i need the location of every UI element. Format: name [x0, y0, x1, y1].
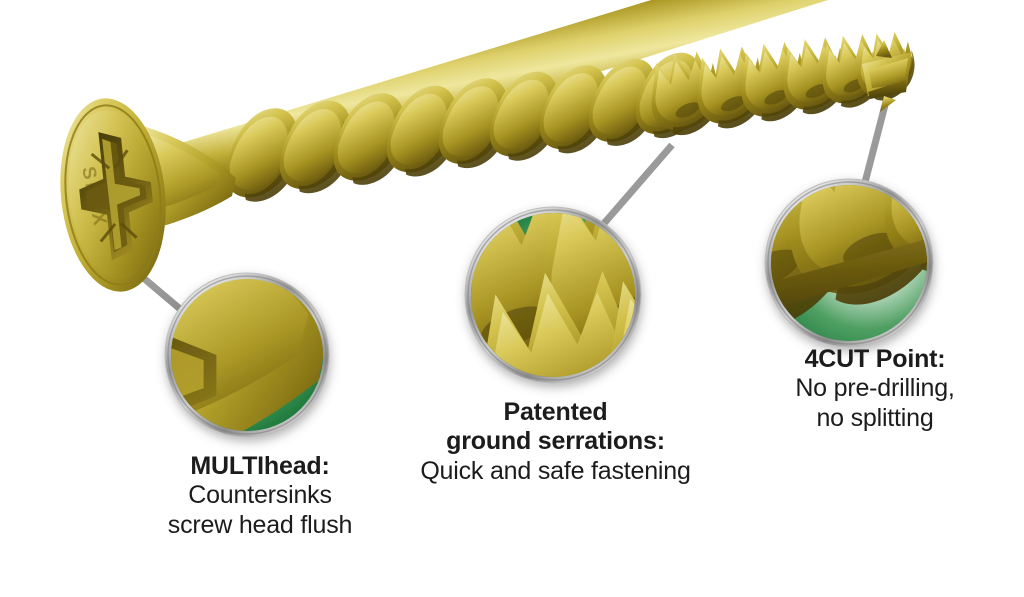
lens-4cut-point — [662, 110, 1024, 347]
callout-ground-serrations: Patented ground serrations: Quick and sa… — [383, 398, 728, 486]
callout-multihead-line1: Countersinks — [115, 481, 405, 510]
callout-multihead-title: MULTIhead: — [115, 452, 405, 481]
leader-line-serrations — [600, 145, 672, 228]
callout-4cut-point: 4CUT Point: No pre-drilling, no splittin… — [735, 345, 1015, 433]
screw-head: SPAX — [51, 93, 236, 297]
callout-multihead-line2: screw head flush — [115, 511, 405, 540]
infographic-canvas: SPAX — [0, 0, 1024, 597]
callout-point-title: 4CUT Point: — [735, 345, 1015, 374]
callout-multihead: MULTIhead: Countersinks screw head flush — [115, 452, 405, 540]
callout-serrations-title-line1: Patented — [383, 398, 728, 427]
callout-point-line1: No pre-drilling, — [735, 374, 1015, 403]
callout-serrations-title-line2: ground serrations: — [383, 427, 728, 456]
callout-point-line2: no splitting — [735, 404, 1015, 433]
callout-serrations-line1: Quick and safe fastening — [383, 457, 728, 486]
